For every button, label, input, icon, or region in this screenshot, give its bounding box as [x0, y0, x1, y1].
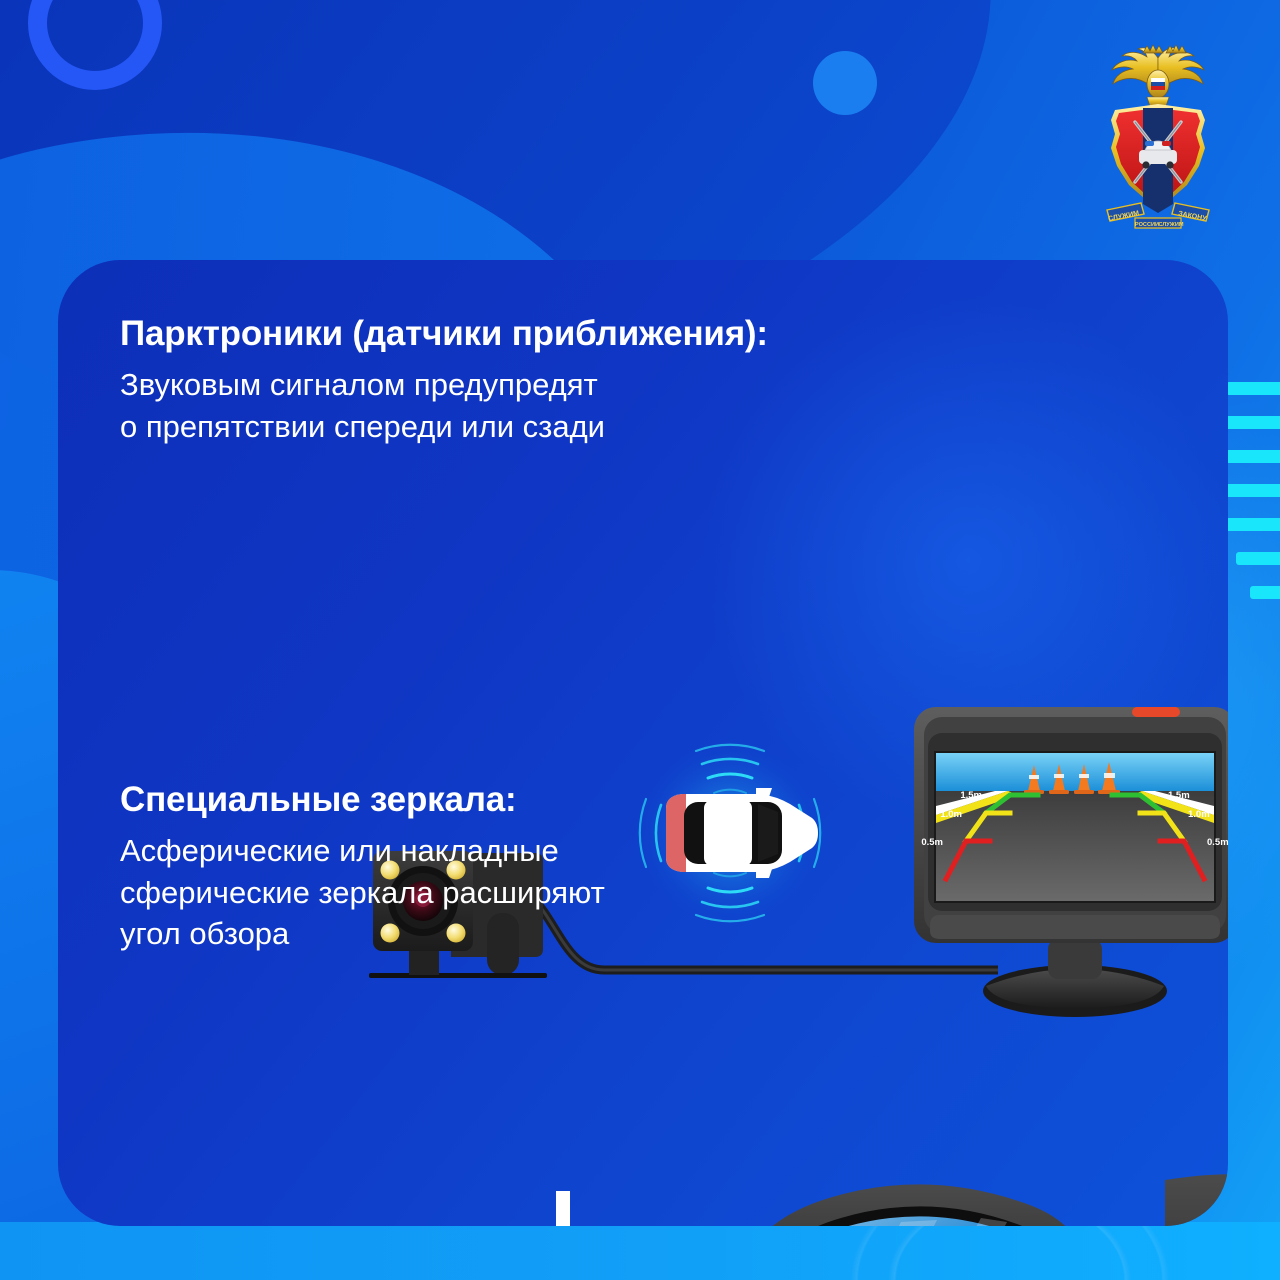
guide-label-0-5m-right: 0.5m — [1207, 837, 1228, 848]
curved-pointer-arrow-icon — [548, 1185, 733, 1226]
emblem-motto-center-bottom: СЛУЖИМ — [1158, 222, 1183, 228]
section-body-line: угол обзора — [120, 913, 605, 955]
section-body-line: о препятствии спереди или сзади — [120, 406, 768, 448]
monitor-led-indicator-icon — [1132, 707, 1180, 717]
section-parking-sensors: Парктроники (датчики приближения): Звуко… — [120, 314, 768, 447]
car-top-view-with-sonar-waves-icon — [606, 738, 854, 928]
guide-label-1-5m-right: 1.5m — [1168, 790, 1190, 801]
russian-traffic-police-emblem-icon: СЛУЖИМ ЗАКОНУ РОССИИ СЛУЖИМ — [1083, 42, 1233, 237]
section-body-line: Звуковым сигналом предупредят — [120, 364, 768, 406]
circle-decor-icon — [813, 51, 877, 115]
section-body-line: Асферические или накладные — [120, 830, 605, 872]
section-special-mirrors: Специальные зеркала: Асферические или на… — [120, 780, 605, 955]
section-body-line: сферические зеркала расширяют — [120, 872, 605, 914]
guide-label-0-5m-left: 0.5m — [921, 837, 943, 848]
emblem-motto-center-top: РОССИИ — [1135, 222, 1159, 228]
section-heading: Специальные зеркала: — [120, 780, 605, 819]
guide-label-1-0m-right: 1.0m — [1188, 809, 1210, 820]
section-heading: Парктроники (датчики приближения): — [120, 314, 768, 353]
aspherical-side-mirror-icon — [713, 1160, 1228, 1226]
parking-assist-monitor-icon: 1.5m 1.5m 1.0m 1.0m 0.5m 0.5m — [910, 703, 1228, 1033]
content-card: Парктроники (датчики приближения): Звуко… — [58, 260, 1228, 1226]
guide-label-1-0m-left: 1.0m — [940, 809, 962, 820]
infographic-canvas: СЛУЖИМ ЗАКОНУ РОССИИ СЛУЖИМ Парктроники … — [0, 0, 1280, 1280]
guide-label-1-5m-left: 1.5m — [960, 790, 982, 801]
